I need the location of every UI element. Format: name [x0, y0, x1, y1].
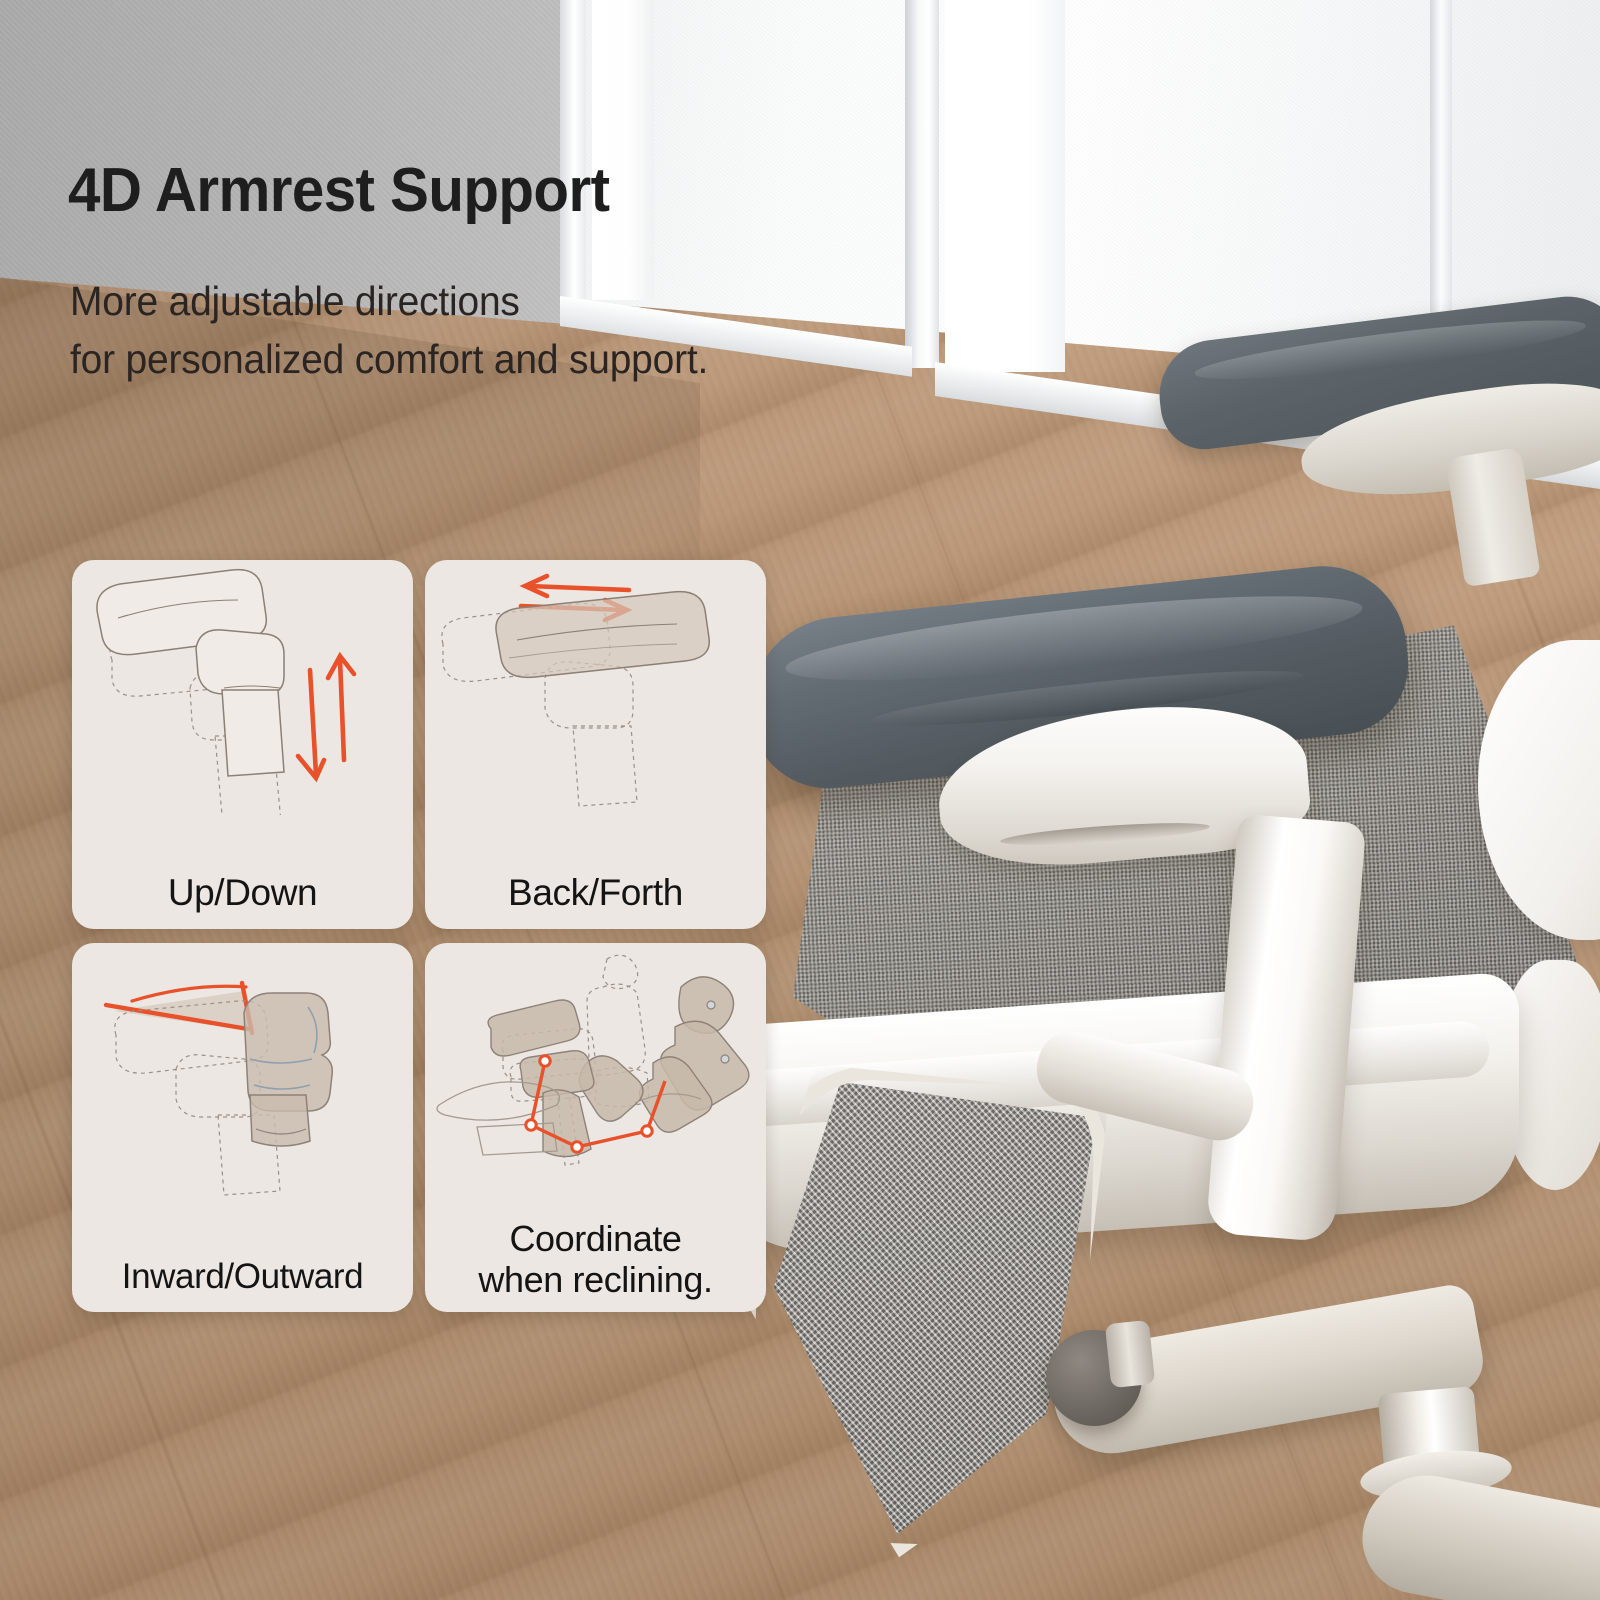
feature-card-label: Up/Down — [72, 872, 413, 913]
page-title: 4D Armrest Support — [68, 160, 609, 222]
wall-light-slot-2 — [945, 0, 1065, 372]
chair-recline-linkage-diagram-icon — [425, 943, 766, 1181]
feature-card-inward-outward[interactable]: Inward/Outward — [72, 943, 413, 1312]
feature-card-grid: Up/Down — [72, 560, 766, 1320]
feature-card-back-forth[interactable]: Back/Forth — [425, 560, 766, 929]
wall-light-slot-1 — [592, 0, 654, 300]
feature-card-up-down[interactable]: Up/Down — [72, 560, 413, 929]
wall-mullion-1 — [560, 0, 586, 308]
armrest-vertical-adjust-diagram-icon — [72, 560, 413, 815]
wall-mullion-2 — [905, 0, 939, 368]
feature-card-coordinate-reclining[interactable]: Coordinate when reclining. — [425, 943, 766, 1312]
armrest-horizontal-slide-diagram-icon — [425, 560, 766, 815]
feature-card-label: Coordinate when reclining. — [425, 1219, 766, 1300]
armrest-pivot-rotate-diagram-icon — [72, 943, 413, 1198]
feature-card-label: Back/Forth — [425, 872, 766, 913]
page-subtitle: More adjustable directions for personali… — [70, 272, 708, 388]
feature-card-label: Inward/Outward — [72, 1257, 413, 1296]
wall-mullion-3 — [1430, 0, 1452, 440]
